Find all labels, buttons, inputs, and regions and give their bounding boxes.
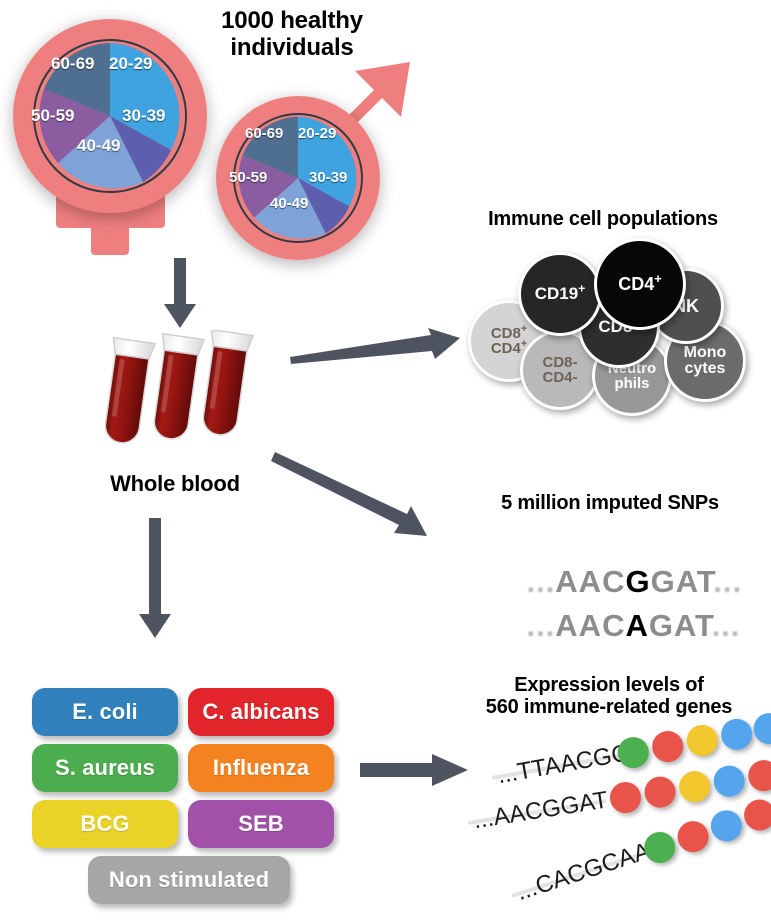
gene-strand-1-bead-4: [719, 716, 755, 752]
stimulus-influenza-label: Influenza: [213, 755, 309, 781]
stimulus-bcg-label: BCG: [80, 811, 129, 837]
mars-label-20-29: 20-29: [298, 125, 336, 142]
stimulus-bcg[interactable]: BCG: [32, 800, 178, 848]
cell-cd8pos-cd4pos-label: CD8+CD4+: [491, 326, 527, 357]
mars-label-60-69: 60-69: [245, 125, 283, 142]
arrow-cohort-to-blood: [160, 258, 200, 330]
stimulus-influenza[interactable]: Influenza: [188, 744, 334, 792]
stimulus-s-aureus-label: S. aureus: [55, 755, 155, 781]
gene-strand-2-bead-3: [677, 769, 712, 804]
stimulus-non-stimulated[interactable]: Non stimulated: [88, 856, 290, 904]
gene-strand-1-bead-2: [650, 729, 686, 765]
mars-symbol: 20-29 30-39 40-49 50-59 60-69: [208, 28, 423, 243]
gene-strand-3-bead-4: [740, 795, 771, 834]
stimulus-seb-label: SEB: [238, 811, 284, 837]
stimulus-seb[interactable]: SEB: [188, 800, 334, 848]
venus-label-40-49: 40-49: [77, 136, 120, 156]
gene-strand-3-bead-3: [707, 806, 746, 845]
arrow-blood-to-snps: [275, 452, 445, 540]
gene-strand-1-bead-5: [751, 711, 771, 747]
blood-tube-3: [197, 330, 253, 438]
cell-cd19pos-label: CD19+: [535, 285, 586, 302]
arrow-blood-to-stimuli: [135, 518, 175, 640]
mars-label-40-49: 40-49: [270, 195, 308, 212]
arrow-blood-to-immune: [290, 328, 462, 370]
cell-cd19pos: CD19+: [518, 252, 602, 336]
snp-row-2: ...AACAGAT...: [488, 572, 740, 680]
stimulus-c-albicans[interactable]: C. albicans: [188, 688, 334, 736]
gene-strand-2-bead-5: [746, 758, 771, 793]
genes-title-line1: Expression levels of: [456, 674, 762, 696]
snp-row-2-left: AAC: [555, 608, 625, 643]
gene-strand-2-bead-1: [608, 780, 643, 815]
arrow-stimuli-to-genes: [360, 752, 472, 788]
gene-strand-2-bead-2: [642, 774, 677, 809]
cell-cd4pos-label: CD4+: [618, 275, 662, 293]
mars-label-30-39: 30-39: [309, 169, 347, 186]
cell-cd4pos: CD4+: [594, 238, 686, 330]
gene-strand-2-sequence: ...AACGGAT: [472, 786, 610, 835]
snp-row-2-prefix: ...: [526, 608, 555, 643]
gene-strand-3-bead-2: [673, 817, 712, 856]
snp-sequences: ...AACGGAT... ...AACAGAT...: [488, 528, 738, 616]
stimulus-c-albicans-label: C. albicans: [202, 699, 319, 725]
stimulus-non-stimulated-label: Non stimulated: [109, 867, 269, 893]
snps-title: 5 million imputed SNPs: [460, 492, 760, 514]
gene-strand-2-bead-4: [711, 763, 746, 798]
venus-symbol: 20-29 30-39 40-49 50-59 60-69: [8, 12, 223, 242]
venus-label-60-69: 60-69: [51, 54, 94, 74]
gene-strand-1-bead-3: [684, 722, 720, 758]
mars-label-50-59: 50-59: [229, 169, 267, 186]
blood-collection-tubes: [100, 330, 265, 455]
stimulus-e-coli-label: E. coli: [72, 699, 138, 725]
snp-row-2-right: GAT: [649, 608, 712, 643]
blood-tube-1: [100, 338, 155, 446]
cell-monocytes-label: Monocytes: [684, 345, 727, 378]
venus-label-50-59: 50-59: [31, 106, 74, 126]
gene-strand-3-sequence: ...CACGCAA: [513, 837, 654, 906]
cell-cd8neg-cd4neg-label: CD8-CD4-: [542, 355, 577, 386]
stimulus-s-aureus[interactable]: S. aureus: [32, 744, 178, 792]
stimulus-e-coli[interactable]: E. coli: [32, 688, 178, 736]
venus-label-20-29: 20-29: [109, 54, 152, 74]
whole-blood-label: Whole blood: [75, 472, 275, 497]
venus-label-30-39: 30-39: [122, 106, 165, 126]
genes-title-line2: 560 immune-related genes: [456, 696, 762, 718]
blood-tube-2: [148, 334, 204, 442]
snp-row-2-highlight: A: [625, 608, 648, 643]
genes-title: Expression levels of 560 immune-related …: [456, 674, 762, 719]
snp-row-2-suffix: ...: [712, 608, 741, 643]
immune-cell-cluster: CD8+CD4+ CD8-CD4- Neutrophils Monocytes …: [468, 238, 758, 408]
immune-title: Immune cell populations: [448, 208, 758, 230]
